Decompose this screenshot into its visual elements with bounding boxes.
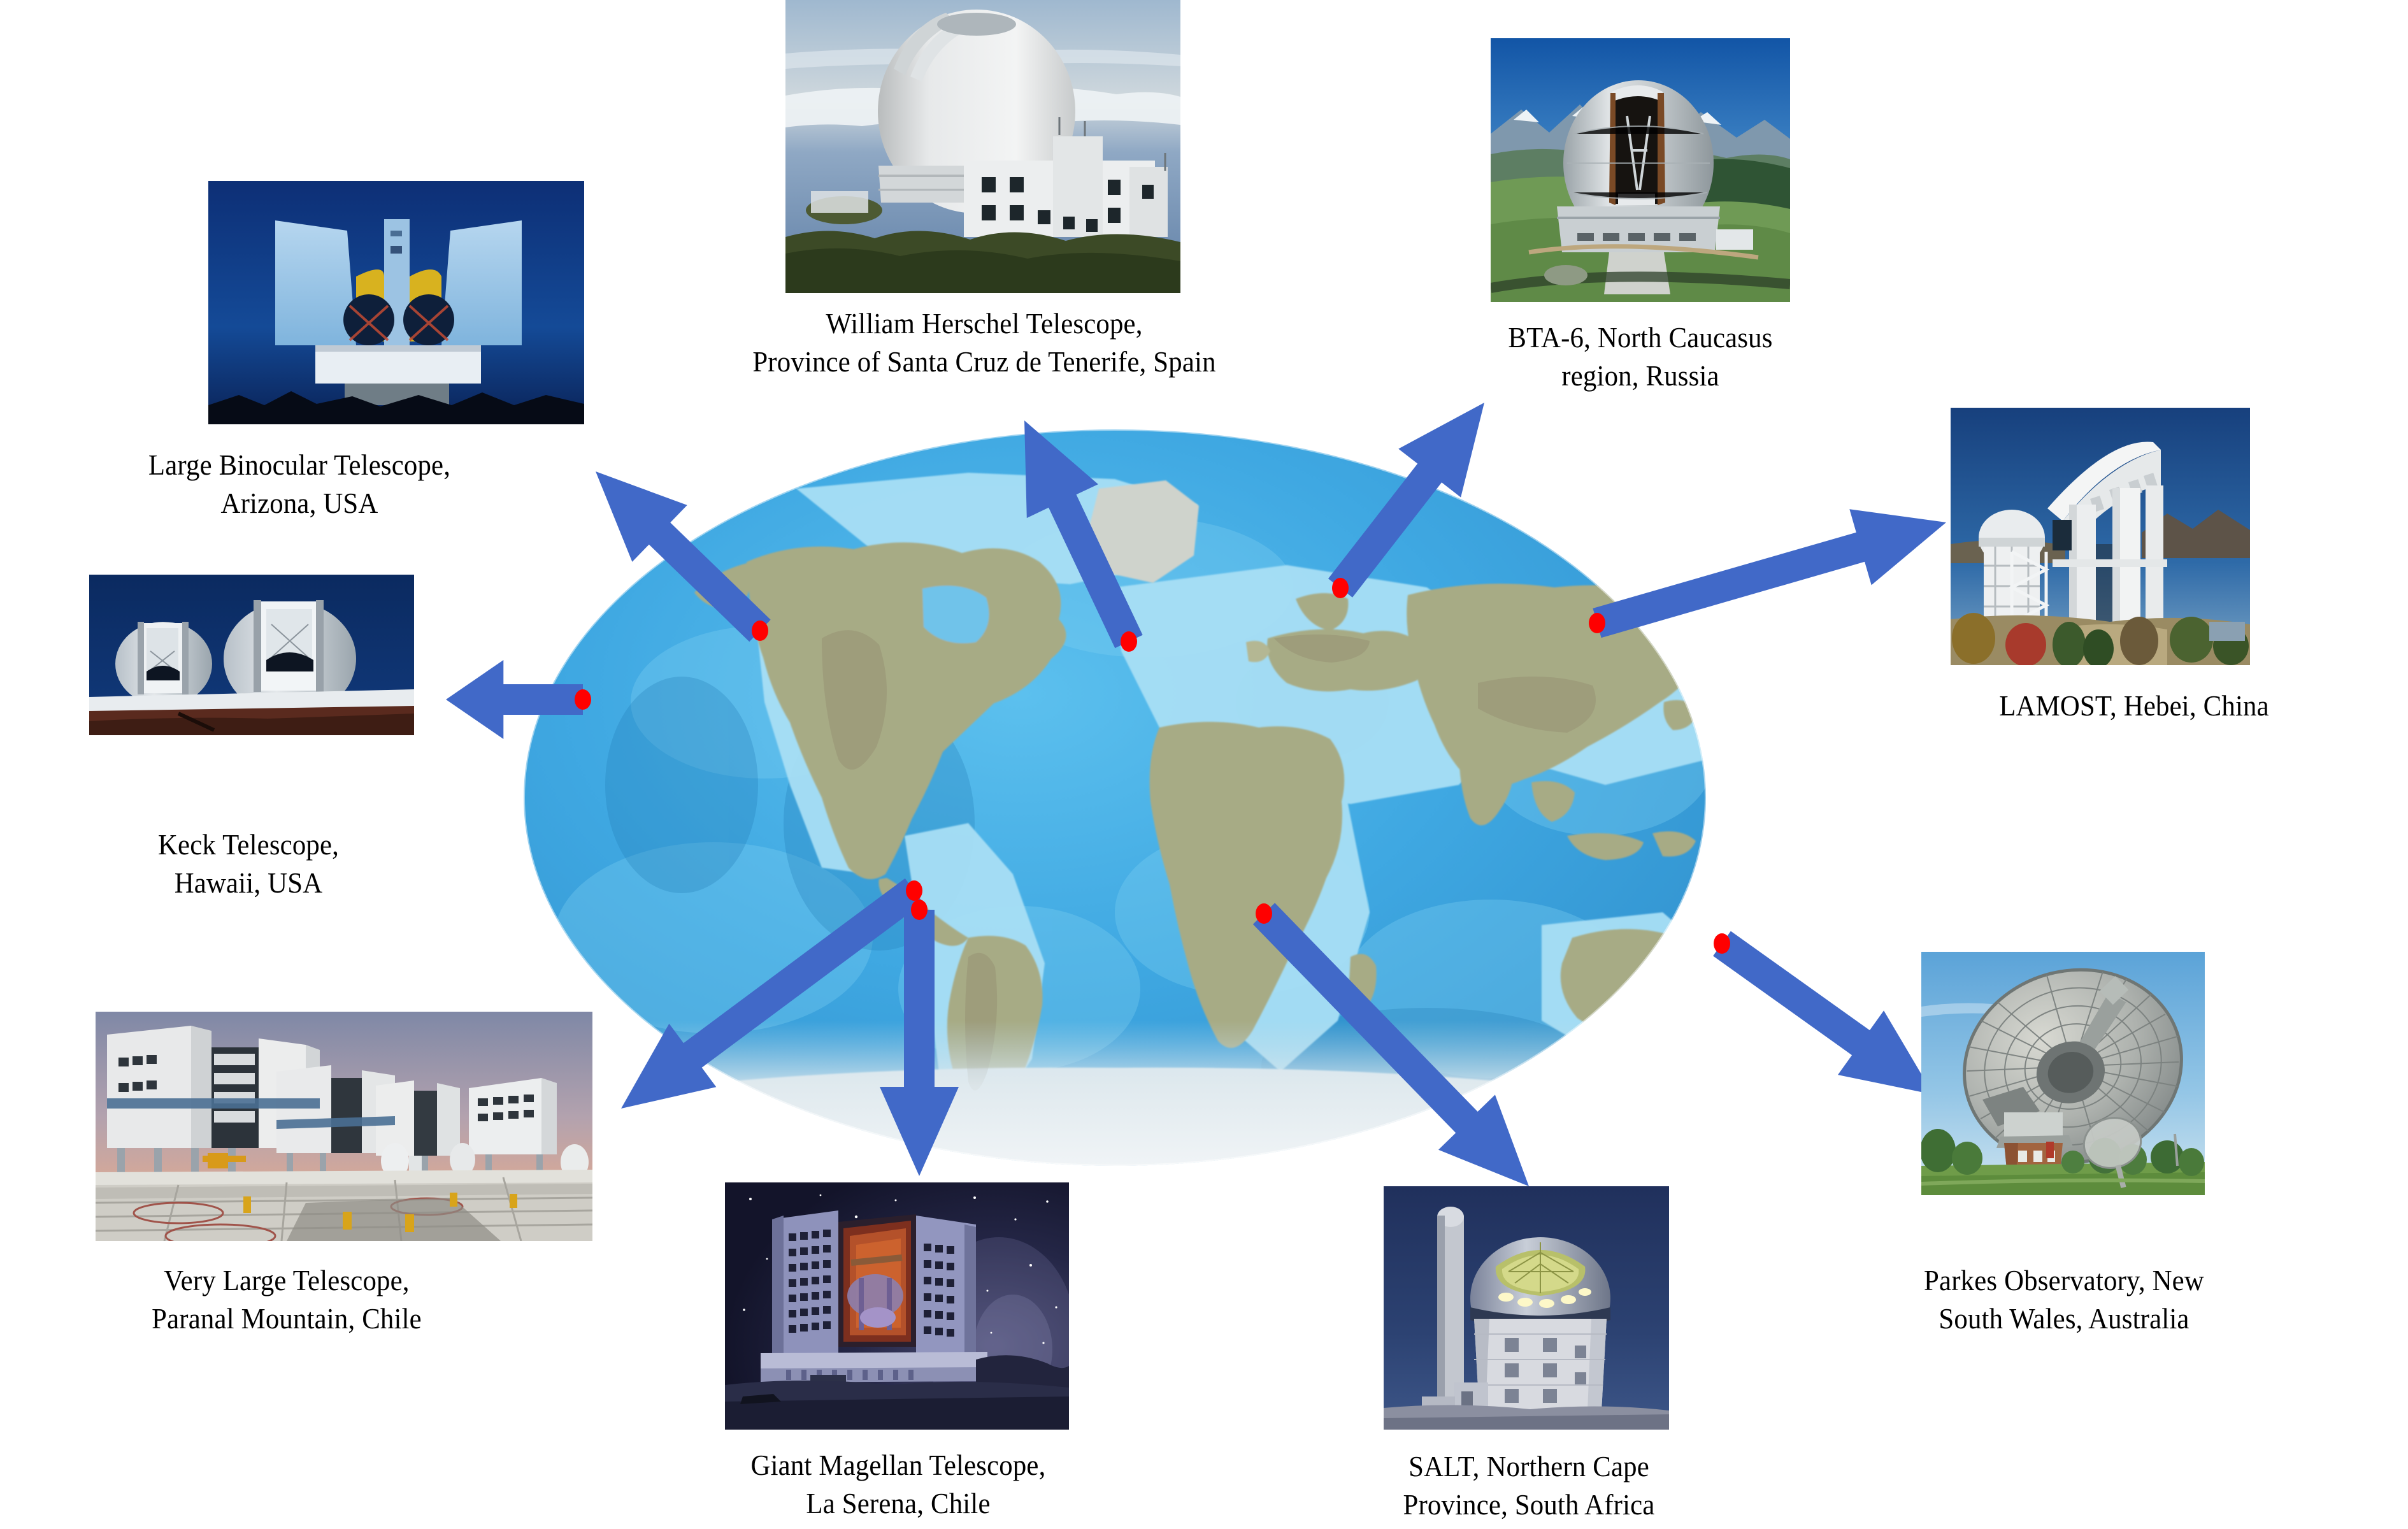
- caption-salt: SALT, Northern Cape Province, South Afri…: [1345, 1447, 1713, 1524]
- photo-large-binocular-telescope: [208, 181, 584, 424]
- photo-lamost: [1951, 408, 2250, 665]
- photo-giant-magellan-telescope: [725, 1182, 1069, 1430]
- caption-very-large-telescope: Very Large Telescope, Paranal Mountain, …: [62, 1261, 512, 1338]
- photo-parkes-observatory: [1921, 952, 2205, 1195]
- figure-canvas: Large Binocular Telescope, Arizona, USA: [0, 0, 2408, 1529]
- caption-lamost: LAMOST, Hebei, China: [1951, 687, 2318, 725]
- caption-bta-6: BTA-6, North Caucasus region, Russia: [1457, 319, 1824, 395]
- photo-salt: [1384, 1186, 1669, 1430]
- photo-william-herschel-telescope: [785, 0, 1180, 293]
- caption-william-herschel-telescope: William Herschel Telescope, Province of …: [605, 305, 1363, 381]
- caption-keck-telescope: Keck Telescope, Hawaii, USA: [65, 826, 433, 902]
- photo-very-large-telescope: [96, 1012, 592, 1241]
- photo-bta-6: [1491, 38, 1790, 302]
- caption-large-binocular-telescope: Large Binocular Telescope, Arizona, USA: [104, 446, 495, 522]
- world-map-graphic: [522, 428, 1707, 1167]
- marker-new-south-wales: [1714, 933, 1730, 954]
- arrow-to-parkes-observatory: [1713, 931, 1933, 1095]
- photo-keck-telescope: [89, 575, 414, 735]
- caption-giant-magellan-telescope: Giant Magellan Telescope, La Serena, Chi…: [667, 1446, 1129, 1523]
- world-map: [522, 428, 1707, 1167]
- caption-parkes-observatory: Parkes Observatory, New South Wales, Aus…: [1845, 1261, 2283, 1338]
